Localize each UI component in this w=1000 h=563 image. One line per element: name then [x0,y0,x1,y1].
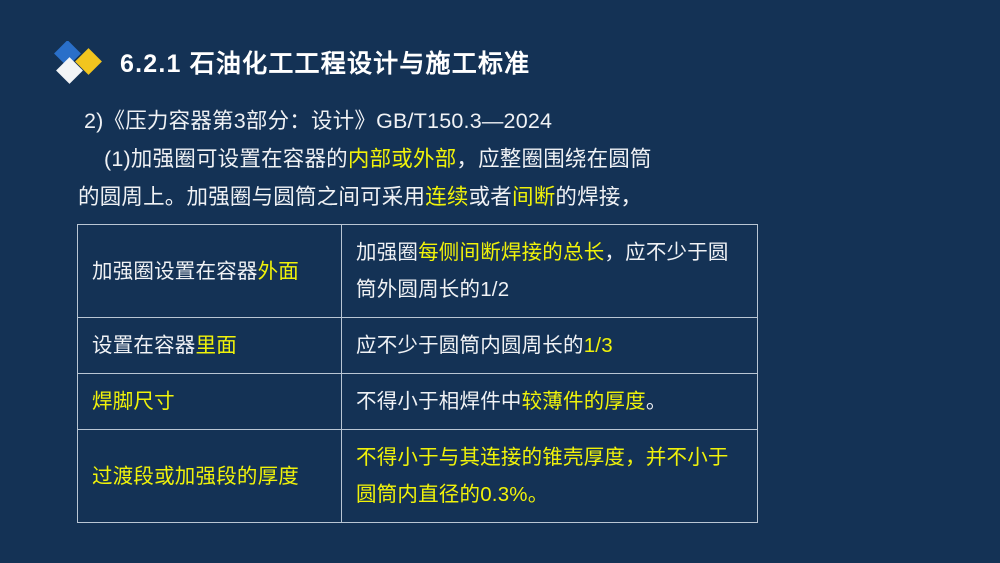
page-title: 6.2.1 石油化工工程设计与施工标准 [120,52,530,77]
table-cell-condition-2: 设置在容器里面 [78,318,342,374]
table-cell-requirement-1: 加强圈每侧间断焊接的总长，应不少于圆筒外圆周长的1/2 [342,225,758,318]
cell-text-highlight: 焊脚尺寸 [92,390,175,413]
table-row: 设置在容器里面 应不少于圆筒内圆周长的1/3 [78,318,758,374]
table-row: 过渡段或加强段的厚度 不得小于与其连接的锥壳厚度，并不小于圆筒内直径的0.3%。 [78,430,758,523]
table-row: 焊脚尺寸 不得小于相焊件中较薄件的厚度。 [78,374,758,430]
cell-text-highlight: 过渡段或加强段的厚度 [92,465,299,488]
body-line-3-seg5: 的焊接， [555,185,642,209]
cell-text-seg3: 。 [646,390,667,413]
cell-text-highlight: 1/3 [584,334,613,357]
body-line-3-seg3: 或者 [469,185,512,209]
diamond-cluster-icon [52,41,110,87]
slide-canvas: 6.2.1 石油化工工程设计与施工标准 2)《压力容器第3部分：设计》GB/T1… [0,0,1000,563]
cell-text-seg1: 不得小于相焊件中 [356,390,522,413]
body-line-3: 的圆周上。加强圈与圆筒之间可采用连续或者间断的焊接， [78,178,642,216]
cell-text-highlight: 里面 [196,334,237,357]
cell-text-highlight: 较薄件的厚度 [522,390,646,413]
table-row: 加强圈设置在容器外面 加强圈每侧间断焊接的总长，应不少于圆筒外圆周长的1/2 [78,225,758,318]
table-cell-requirement-4: 不得小于与其连接的锥壳厚度，并不小于圆筒内直径的0.3%。 [342,430,758,523]
cell-text-seg1: 加强圈设置在容器 [92,260,258,283]
table-cell-condition-4: 过渡段或加强段的厚度 [78,430,342,523]
body-line-3-highlight-2: 间断 [512,185,555,209]
cell-text-highlight: 外面 [258,260,299,283]
table-cell-condition-1: 加强圈设置在容器外面 [78,225,342,318]
table-cell-condition-3: 焊脚尺寸 [78,374,342,430]
cell-text-seg1: 设置在容器 [92,334,196,357]
body-line-1-text: 2)《压力容器第3部分：设计》GB/T150.3—2024 [84,109,552,133]
body-line-1: 2)《压力容器第3部分：设计》GB/T150.3—2024 [84,102,552,140]
table-cell-requirement-3: 不得小于相焊件中较薄件的厚度。 [342,374,758,430]
cell-text-highlight: 不得小于与其连接的锥壳厚度，并不小于圆筒内直径的0.3%。 [356,446,729,506]
reinforcement-ring-spec-table: 加强圈设置在容器外面 加强圈每侧间断焊接的总长，应不少于圆筒外圆周长的1/2 设… [77,224,758,523]
body-line-2-seg3: ，应整圈围绕在圆筒 [456,147,651,171]
body-line-2: (1)加强圈可设置在容器的内部或外部，应整圈围绕在圆筒 [104,140,652,178]
body-line-2-seg1: (1)加强圈可设置在容器的 [104,147,348,171]
body-line-3-highlight-1: 连续 [425,185,468,209]
table-cell-requirement-2: 应不少于圆筒内圆周长的1/3 [342,318,758,374]
slide-header: 6.2.1 石油化工工程设计与施工标准 [52,40,530,88]
cell-text-seg1: 应不少于圆筒内圆周长的 [356,334,584,357]
cell-text-seg1: 加强圈 [356,241,418,264]
body-line-2-highlight: 内部或外部 [348,147,457,171]
diamond-cluster-logo [52,41,110,87]
cell-text-highlight: 每侧间断焊接的总长 [418,241,604,264]
body-line-3-seg1: 的圆周上。加强圈与圆筒之间可采用 [78,185,425,209]
